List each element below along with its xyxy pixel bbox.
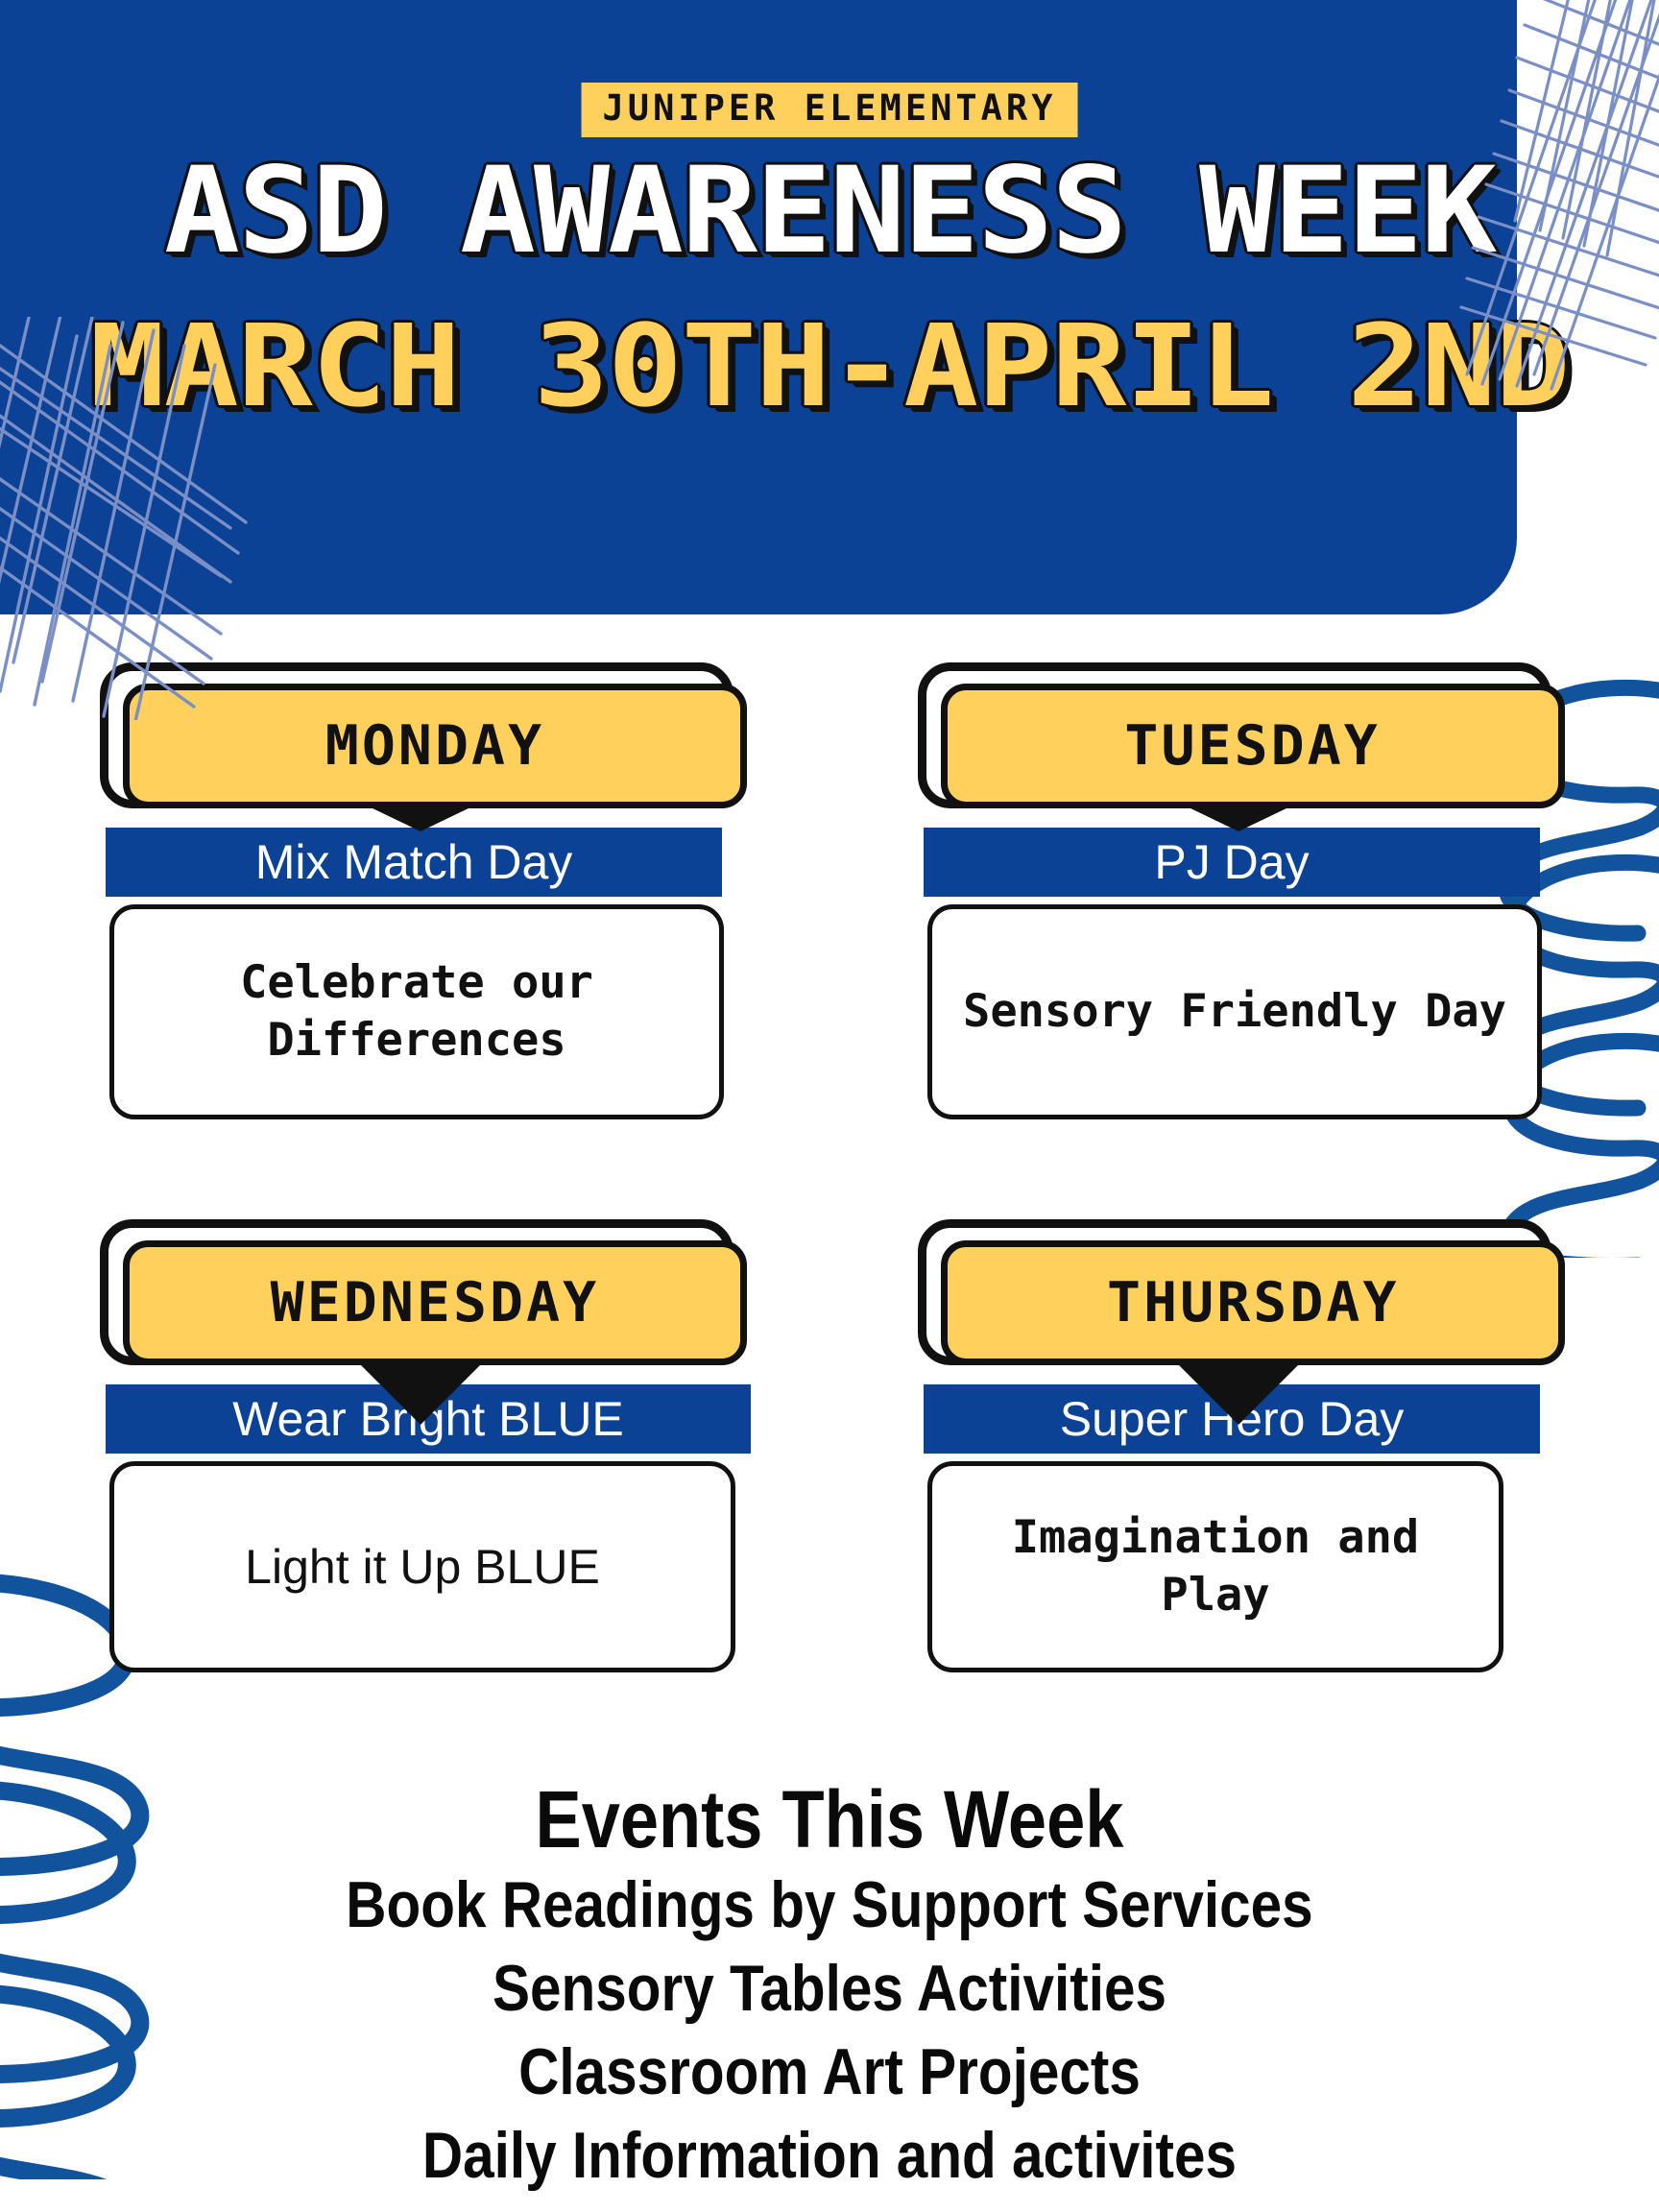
events-line-1: Book Readings by Support Services — [116, 1863, 1543, 1947]
day-pill: WEDNESDAY — [123, 1240, 747, 1365]
events-line-4: Daily Information and activites — [116, 2114, 1543, 2198]
day-theme-strip: PJ Day — [924, 828, 1540, 897]
day-pill-wrap: THURSDAY — [902, 1219, 1575, 1382]
events-line-3: Classroom Art Projects — [116, 2031, 1543, 2114]
events-line-2: Sensory Tables Activities — [116, 1947, 1543, 2031]
day-label: WEDNESDAY — [271, 1276, 600, 1331]
events-section: Events This Week Book Readings by Suppor… — [0, 1776, 1659, 2198]
day-card-thursday[interactable]: THURSDAY Super Hero Day Imagination and … — [902, 1219, 1575, 1382]
day-description-text: Imagination and Play — [957, 1509, 1474, 1624]
day-description-text: Celebrate our Differences — [139, 954, 694, 1070]
day-description-text: Light it Up BLUE — [245, 1536, 600, 1598]
day-card-wednesday[interactable]: WEDNESDAY Wear Bright BLUE Light it Up B… — [84, 1219, 757, 1382]
day-label: MONDAY — [325, 719, 544, 774]
day-description-text: Sensory Friendly Day — [963, 983, 1506, 1041]
day-notch-triangle-icon — [369, 806, 472, 831]
day-description-box: Light it Up BLUE — [109, 1461, 735, 1672]
page-title: ASD AWARENESS WEEK — [0, 152, 1659, 271]
day-cards-row-1: MONDAY Mix Match Day Celebrate our Diffe… — [0, 662, 1659, 1219]
day-card-tuesday[interactable]: TUESDAY PJ Day Sensory Friendly Day — [902, 662, 1575, 826]
day-cards-row-2: WEDNESDAY Wear Bright BLUE Light it Up B… — [0, 1219, 1659, 1757]
day-label: THURSDAY — [1107, 1276, 1400, 1331]
crosshatch-scribble-left-icon — [0, 317, 259, 720]
school-name-chip: JUNIPER ELEMENTARY — [582, 83, 1078, 137]
day-pill-wrap: WEDNESDAY — [84, 1219, 757, 1382]
day-pill: TUESDAY — [941, 684, 1565, 808]
day-theme-label: PJ Day — [1154, 838, 1309, 886]
day-notch-triangle-icon — [357, 1361, 484, 1425]
crosshatch-scribble-top-right-icon — [1457, 0, 1659, 394]
events-title: Events This Week — [116, 1776, 1543, 1863]
day-description-box: Celebrate our Differences — [109, 904, 724, 1119]
day-description-box: Imagination and Play — [927, 1461, 1503, 1672]
day-label: TUESDAY — [1125, 719, 1381, 774]
day-pill-wrap: TUESDAY — [902, 662, 1575, 826]
day-theme-strip: Mix Match Day — [106, 828, 722, 897]
day-cards-grid: MONDAY Mix Match Day Celebrate our Diffe… — [0, 662, 1659, 1757]
poster-canvas: JUNIPER ELEMENTARY ASD AWARENESS WEEK MA… — [0, 0, 1659, 2212]
day-notch-triangle-icon — [1175, 1361, 1302, 1425]
day-pill: THURSDAY — [941, 1240, 1565, 1365]
day-description-box: Sensory Friendly Day — [927, 904, 1542, 1119]
day-notch-triangle-icon — [1187, 806, 1290, 831]
day-theme-label: Mix Match Day — [255, 838, 573, 886]
